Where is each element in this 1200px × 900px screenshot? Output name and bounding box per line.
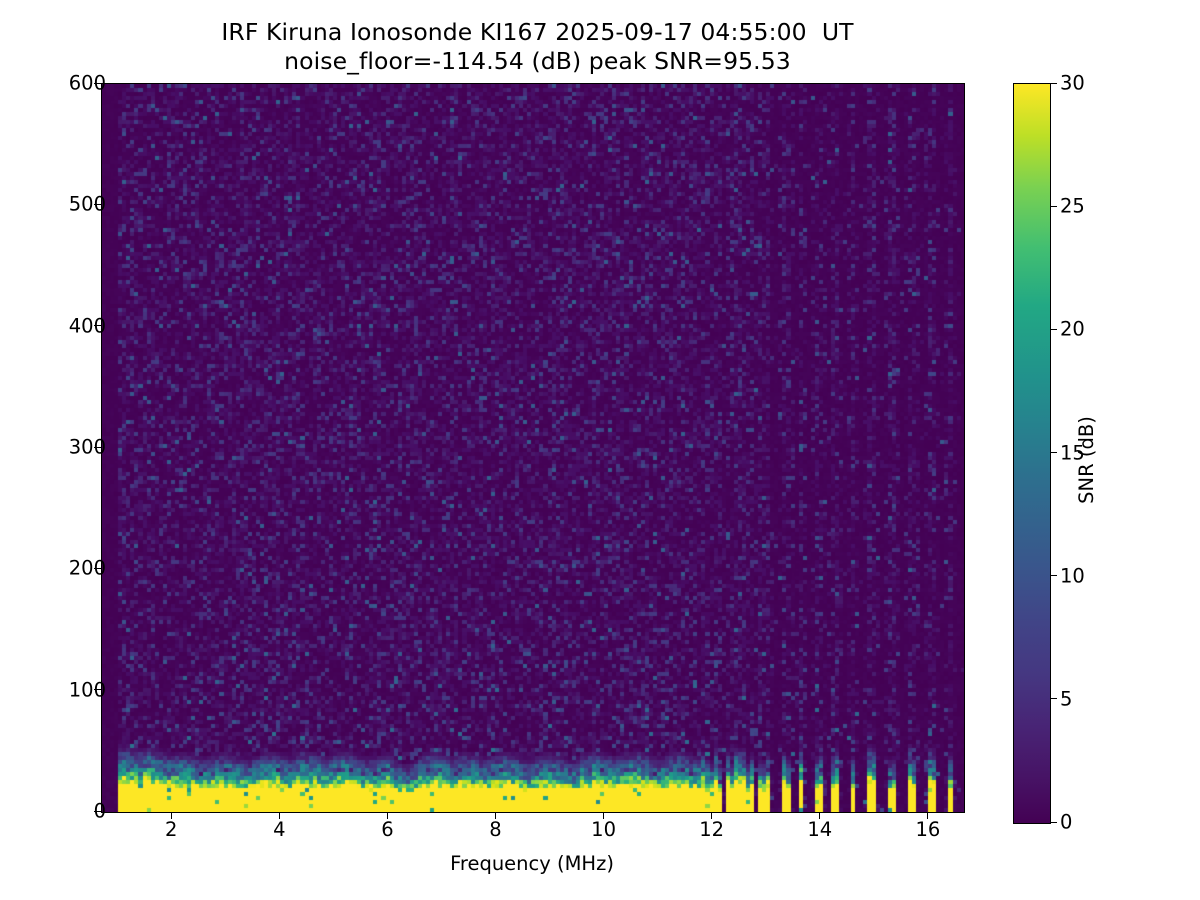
title-line-primary: IRF Kiruna Ionosonde KI167 2025-09-17 04… bbox=[0, 18, 1075, 47]
colorbar-tick-label: 25 bbox=[1060, 195, 1130, 218]
y-tick-label: 100 bbox=[0, 678, 106, 701]
x-tick-label: 16 bbox=[888, 818, 968, 841]
y-tick-label: 200 bbox=[0, 557, 106, 580]
colorbar-tick-label: 5 bbox=[1060, 687, 1130, 710]
colorbar-tick-mark bbox=[1050, 698, 1057, 699]
x-tick-label: 12 bbox=[672, 818, 752, 841]
snr-colorbar bbox=[1013, 83, 1051, 824]
y-tick-label: 600 bbox=[0, 72, 106, 95]
x-tick-label: 6 bbox=[347, 818, 427, 841]
x-tick-label: 10 bbox=[564, 818, 644, 841]
x-tick-label: 2 bbox=[131, 818, 211, 841]
title-line-secondary: noise_floor=-114.54 (dB) peak SNR=95.53 bbox=[0, 47, 1075, 76]
x-tick-label: 8 bbox=[456, 818, 536, 841]
colorbar-tick-mark bbox=[1050, 83, 1057, 84]
y-tick-label: 400 bbox=[0, 314, 106, 337]
y-tick-label: 500 bbox=[0, 193, 106, 216]
colorbar-tick-label: 20 bbox=[1060, 318, 1130, 341]
colorbar-tick-mark bbox=[1050, 452, 1057, 453]
y-tick-label: 300 bbox=[0, 436, 106, 459]
ionogram-figure: IRF Kiruna Ionosonde KI167 2025-09-17 04… bbox=[0, 0, 1200, 900]
x-axis-label: Frequency (MHz) bbox=[101, 852, 963, 875]
colorbar-tick-mark bbox=[1050, 575, 1057, 576]
ionogram-heatmap bbox=[102, 84, 964, 812]
colorbar-tick-mark bbox=[1050, 822, 1057, 823]
figure-title: IRF Kiruna Ionosonde KI167 2025-09-17 04… bbox=[0, 18, 1075, 75]
colorbar-tick-mark bbox=[1050, 329, 1057, 330]
colorbar-label: SNR (dB) bbox=[1075, 340, 1098, 580]
plot-axes bbox=[101, 83, 965, 813]
x-tick-label: 14 bbox=[780, 818, 860, 841]
colorbar-tick-label: 0 bbox=[1060, 811, 1130, 834]
colorbar-tick-label: 30 bbox=[1060, 72, 1130, 95]
colorbar-tick-mark bbox=[1050, 206, 1057, 207]
x-tick-label: 4 bbox=[239, 818, 319, 841]
y-tick-label: 0 bbox=[0, 800, 106, 823]
